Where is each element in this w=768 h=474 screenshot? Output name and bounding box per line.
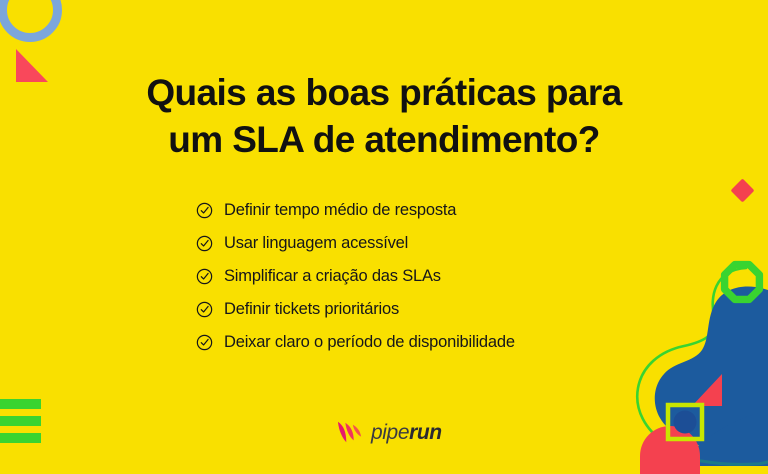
slide-canvas: Quais as boas práticas para um SLA de at… <box>0 0 768 474</box>
check-circle-icon <box>196 301 213 318</box>
piperun-wordmark: piperun <box>371 422 442 443</box>
page-title: Quais as boas práticas para um SLA de at… <box>0 69 768 164</box>
list-item-label: Simplificar a criação das SLAs <box>224 267 441 286</box>
list-item: Definir tickets prioritários <box>196 293 666 325</box>
logo-text-run: run <box>409 421 442 444</box>
list-item-label: Definir tempo médio de resposta <box>224 201 456 220</box>
piperun-logo: piperun <box>336 415 442 449</box>
page-title-line-2: um SLA de atendimento? <box>64 116 704 163</box>
page-title-line-1: Quais as boas práticas para <box>64 69 704 116</box>
list-item: Usar linguagem acessível <box>196 227 666 259</box>
logo-text-pipe: pipe <box>371 421 409 444</box>
check-circle-icon <box>196 202 213 219</box>
list-item: Deixar claro o período de disponibilidad… <box>196 326 666 358</box>
list-item-label: Usar linguagem acessível <box>224 234 408 253</box>
list-item-label: Deixar claro o período de disponibilidad… <box>224 333 515 352</box>
piperun-logo-mark-icon <box>336 419 364 445</box>
list-item: Simplificar a criação das SLAs <box>196 260 666 292</box>
check-circle-icon <box>196 268 213 285</box>
best-practices-list: Definir tempo médio de resposta Usar lin… <box>196 194 666 359</box>
list-item: Definir tempo médio de resposta <box>196 194 666 226</box>
check-circle-icon <box>196 235 213 252</box>
list-item-label: Definir tickets prioritários <box>224 300 399 319</box>
check-circle-icon <box>196 334 213 351</box>
